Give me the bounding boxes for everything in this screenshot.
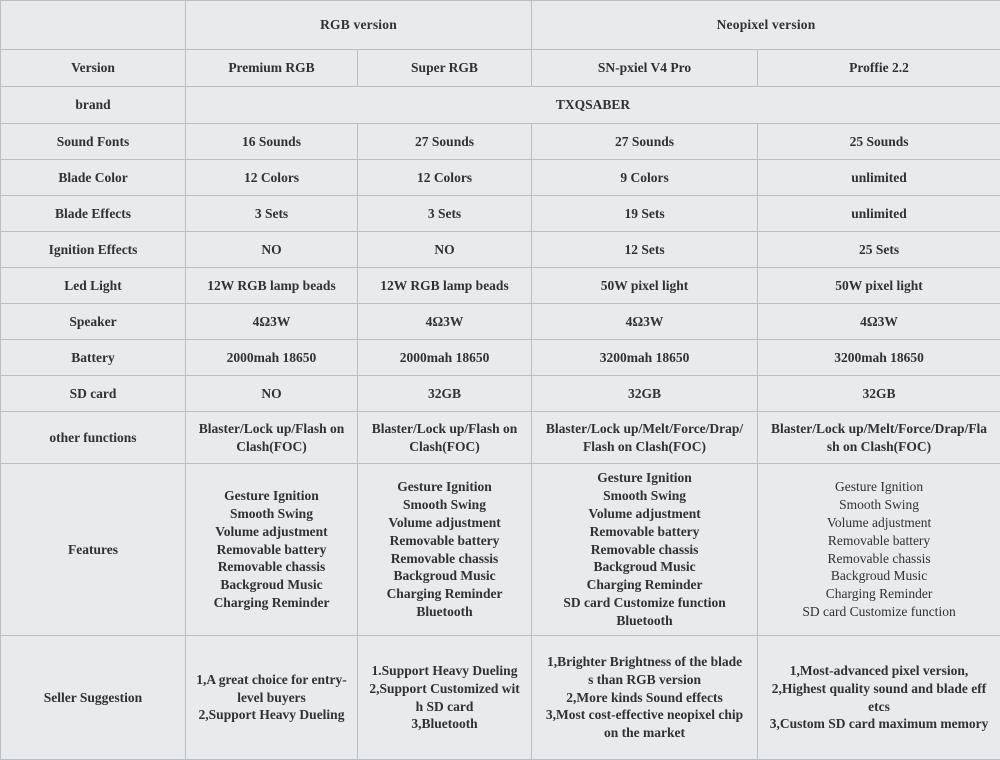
cell-speaker-2: 4Ω3W xyxy=(532,304,758,340)
row-label-version: Version xyxy=(1,50,186,87)
table-row-speaker: Speaker 4Ω3W 4Ω3W 4Ω3W 4Ω3W xyxy=(1,304,1000,340)
cell-ignition-effects-0: NO xyxy=(186,232,358,268)
text-line: 1.Support Heavy Dueling xyxy=(364,662,525,680)
cell-sd-card-3: 32GB xyxy=(758,376,1000,412)
cell-led-light-0: 12W RGB lamp beads xyxy=(186,268,358,304)
row-label-seller-suggestion: Seller Suggestion xyxy=(1,636,186,760)
cell-seller-suggestion-2: 1,Brighter Brightness of the blades than… xyxy=(532,636,758,760)
table-row-features: Features Gesture IgnitionSmooth SwingVol… xyxy=(1,464,1000,636)
text-line: Flash on Clash(FOC) xyxy=(538,438,751,456)
cell-sound-fonts-1: 27 Sounds xyxy=(358,124,532,160)
text-line: 3,Custom SD card maximum memory xyxy=(764,715,994,733)
cell-sd-card-0: NO xyxy=(186,376,358,412)
cell-sd-card-2: 32GB xyxy=(532,376,758,412)
table-row-other-functions: other functions Blaster/Lock up/Flash on… xyxy=(1,412,1000,464)
row-label-led-light: Led Light xyxy=(1,268,186,304)
text-line: 2,More kinds Sound effects xyxy=(538,689,751,707)
row-label-battery: Battery xyxy=(1,340,186,376)
text-line: Volume adjustment xyxy=(764,514,994,532)
text-line: Backgroud Music xyxy=(192,576,351,594)
cell-battery-3: 3200mah 18650 xyxy=(758,340,1000,376)
text-lines: Blaster/Lock up/Melt/Force/Drap/Flash on… xyxy=(538,420,751,456)
cell-speaker-1: 4Ω3W xyxy=(358,304,532,340)
cell-other-functions-1: Blaster/Lock up/Flash onClash(FOC) xyxy=(358,412,532,464)
text-line: Backgroud Music xyxy=(538,558,751,576)
cell-ignition-effects-3: 25 Sets xyxy=(758,232,1000,268)
cell-blade-effects-2: 19 Sets xyxy=(532,196,758,232)
text-lines: Blaster/Lock up/Flash onClash(FOC) xyxy=(192,420,351,456)
table-row-sound-fonts: Sound Fonts 16 Sounds 27 Sounds 27 Sound… xyxy=(1,124,1000,160)
cell-seller-suggestion-3: 1,Most-advanced pixel version,2,Highest … xyxy=(758,636,1000,760)
table-corner-cell xyxy=(1,1,186,50)
text-line: 2,Highest quality sound and blade eff xyxy=(764,680,994,698)
cell-blade-effects-3: unlimited xyxy=(758,196,1000,232)
text-line: Removable chassis xyxy=(764,550,994,568)
table-row-battery: Battery 2000mah 18650 2000mah 18650 3200… xyxy=(1,340,1000,376)
cell-blade-color-0: 12 Colors xyxy=(186,160,358,196)
text-line: Volume adjustment xyxy=(192,523,351,541)
cell-blade-color-3: unlimited xyxy=(758,160,1000,196)
text-line: Bluetooth xyxy=(364,603,525,621)
cell-speaker-3: 4Ω3W xyxy=(758,304,1000,340)
cell-blade-effects-1: 3 Sets xyxy=(358,196,532,232)
cell-seller-suggestion-0: 1,A great choice for entry-level buyers2… xyxy=(186,636,358,760)
text-line: 3,Bluetooth xyxy=(364,715,525,733)
text-line: Removable chassis xyxy=(192,558,351,576)
cell-other-functions-2: Blaster/Lock up/Melt/Force/Drap/Flash on… xyxy=(532,412,758,464)
column-header-super-rgb: Super RGB xyxy=(358,50,532,87)
text-line: Removable battery xyxy=(192,541,351,559)
column-header-proffie-22: Proffie 2.2 xyxy=(758,50,1000,87)
feature-list: Gesture IgnitionSmooth SwingVolume adjus… xyxy=(192,487,351,612)
text-line: Charging Reminder xyxy=(192,594,351,612)
text-line: Removable battery xyxy=(538,523,751,541)
row-label-blade-effects: Blade Effects xyxy=(1,196,186,232)
table-row-led-light: Led Light 12W RGB lamp beads 12W RGB lam… xyxy=(1,268,1000,304)
text-line: Gesture Ignition xyxy=(538,469,751,487)
feature-list: Gesture IgnitionSmooth SwingVolume adjus… xyxy=(364,478,525,621)
text-line: 2,Support Customized wit xyxy=(364,680,525,698)
text-lines: Blaster/Lock up/Melt/Force/Drap/Flash on… xyxy=(764,420,994,456)
text-line: Charging Reminder xyxy=(764,585,994,603)
column-header-premium-rgb: Premium RGB xyxy=(186,50,358,87)
text-line: Removable battery xyxy=(364,532,525,550)
text-line: etcs xyxy=(764,698,994,716)
suggestion-list: 1,Most-advanced pixel version,2,Highest … xyxy=(764,662,994,733)
text-line: Smooth Swing xyxy=(192,505,351,523)
text-line: s than RGB version xyxy=(538,671,751,689)
text-line: 1,Brighter Brightness of the blade xyxy=(538,653,751,671)
text-line: SD card Customize function xyxy=(764,603,994,621)
cell-battery-2: 3200mah 18650 xyxy=(532,340,758,376)
cell-speaker-0: 4Ω3W xyxy=(186,304,358,340)
cell-features-3: Gesture IgnitionSmooth SwingVolume adjus… xyxy=(758,464,1000,636)
row-label-sound-fonts: Sound Fonts xyxy=(1,124,186,160)
row-label-speaker: Speaker xyxy=(1,304,186,340)
text-line: Removable chassis xyxy=(364,550,525,568)
text-line: Blaster/Lock up/Flash on xyxy=(364,420,525,438)
text-line: SD card Customize function xyxy=(538,594,751,612)
cell-features-1: Gesture IgnitionSmooth SwingVolume adjus… xyxy=(358,464,532,636)
text-line: 3,Most cost-effective neopixel chip xyxy=(538,706,751,724)
cell-ignition-effects-1: NO xyxy=(358,232,532,268)
cell-blade-effects-0: 3 Sets xyxy=(186,196,358,232)
text-line: Charging Reminder xyxy=(364,585,525,603)
row-label-features: Features xyxy=(1,464,186,636)
table-row-seller-suggestion: Seller Suggestion 1,A great choice for e… xyxy=(1,636,1000,760)
text-line: Blaster/Lock up/Melt/Force/Drap/Fla xyxy=(764,420,994,438)
text-line: on the market xyxy=(538,724,751,742)
cell-sound-fonts-2: 27 Sounds xyxy=(532,124,758,160)
cell-blade-color-2: 9 Colors xyxy=(532,160,758,196)
text-line: Bluetooth xyxy=(538,612,751,630)
cell-battery-0: 2000mah 18650 xyxy=(186,340,358,376)
text-line: Charging Reminder xyxy=(538,576,751,594)
text-line: Volume adjustment xyxy=(538,505,751,523)
product-comparison-table: RGB version Neopixel version Version Pre… xyxy=(0,0,1000,760)
text-line: Volume adjustment xyxy=(364,514,525,532)
table-row-version: Version Premium RGB Super RGB SN-pxiel V… xyxy=(1,50,1000,87)
table-row-brand: brand TXQSABER xyxy=(1,87,1000,124)
text-line: Blaster/Lock up/Melt/Force/Drap/ xyxy=(538,420,751,438)
row-label-brand: brand xyxy=(1,87,186,124)
text-line: h SD card xyxy=(364,698,525,716)
text-line: Backgroud Music xyxy=(364,567,525,585)
table-row-ignition-effects: Ignition Effects NO NO 12 Sets 25 Sets xyxy=(1,232,1000,268)
row-label-sd-card: SD card xyxy=(1,376,186,412)
text-line: Gesture Ignition xyxy=(364,478,525,496)
cell-other-functions-3: Blaster/Lock up/Melt/Force/Drap/Flash on… xyxy=(758,412,1000,464)
text-line: Removable chassis xyxy=(538,541,751,559)
table-row-sd-card: SD card NO 32GB 32GB 32GB xyxy=(1,376,1000,412)
text-lines: Blaster/Lock up/Flash onClash(FOC) xyxy=(364,420,525,456)
text-line: Smooth Swing xyxy=(364,496,525,514)
text-line: Smooth Swing xyxy=(538,487,751,505)
suggestion-list: 1.Support Heavy Dueling2,Support Customi… xyxy=(364,662,525,733)
cell-other-functions-0: Blaster/Lock up/Flash onClash(FOC) xyxy=(186,412,358,464)
row-label-ignition-effects: Ignition Effects xyxy=(1,232,186,268)
suggestion-list: 1,Brighter Brightness of the blades than… xyxy=(538,653,751,742)
text-line: Backgroud Music xyxy=(764,567,994,585)
text-line: Smooth Swing xyxy=(764,496,994,514)
text-line: Gesture Ignition xyxy=(764,478,994,496)
group-header-neopixel: Neopixel version xyxy=(532,1,1000,50)
text-line: Gesture Ignition xyxy=(192,487,351,505)
text-line: sh on Clash(FOC) xyxy=(764,438,994,456)
feature-list: Gesture IgnitionSmooth SwingVolume adjus… xyxy=(764,478,994,621)
table-row-blade-color: Blade Color 12 Colors 12 Colors 9 Colors… xyxy=(1,160,1000,196)
cell-ignition-effects-2: 12 Sets xyxy=(532,232,758,268)
group-header-rgb: RGB version xyxy=(186,1,532,50)
cell-features-2: Gesture IgnitionSmooth SwingVolume adjus… xyxy=(532,464,758,636)
cell-led-light-2: 50W pixel light xyxy=(532,268,758,304)
cell-sound-fonts-0: 16 Sounds xyxy=(186,124,358,160)
feature-list: Gesture IgnitionSmooth SwingVolume adjus… xyxy=(538,469,751,629)
text-line: Clash(FOC) xyxy=(192,438,351,456)
text-line: 1,A great choice for entry- xyxy=(192,671,351,689)
text-line: Blaster/Lock up/Flash on xyxy=(192,420,351,438)
cell-features-0: Gesture IgnitionSmooth SwingVolume adjus… xyxy=(186,464,358,636)
brand-value: TXQSABER xyxy=(186,87,1000,124)
cell-led-light-1: 12W RGB lamp beads xyxy=(358,268,532,304)
table-row-group-header: RGB version Neopixel version xyxy=(1,1,1000,50)
cell-seller-suggestion-1: 1.Support Heavy Dueling2,Support Customi… xyxy=(358,636,532,760)
text-line: Clash(FOC) xyxy=(364,438,525,456)
suggestion-list: 1,A great choice for entry-level buyers2… xyxy=(192,671,351,724)
row-label-other-functions: other functions xyxy=(1,412,186,464)
cell-led-light-3: 50W pixel light xyxy=(758,268,1000,304)
cell-blade-color-1: 12 Colors xyxy=(358,160,532,196)
text-line: 2,Support Heavy Dueling xyxy=(192,706,351,724)
cell-sound-fonts-3: 25 Sounds xyxy=(758,124,1000,160)
column-header-sn-pxiel-v4-pro: SN-pxiel V4 Pro xyxy=(532,50,758,87)
text-line: level buyers xyxy=(192,689,351,707)
text-line: Removable battery xyxy=(764,532,994,550)
text-line: 1,Most-advanced pixel version, xyxy=(764,662,994,680)
row-label-blade-color: Blade Color xyxy=(1,160,186,196)
table-row-blade-effects: Blade Effects 3 Sets 3 Sets 19 Sets unli… xyxy=(1,196,1000,232)
cell-sd-card-1: 32GB xyxy=(358,376,532,412)
cell-battery-1: 2000mah 18650 xyxy=(358,340,532,376)
